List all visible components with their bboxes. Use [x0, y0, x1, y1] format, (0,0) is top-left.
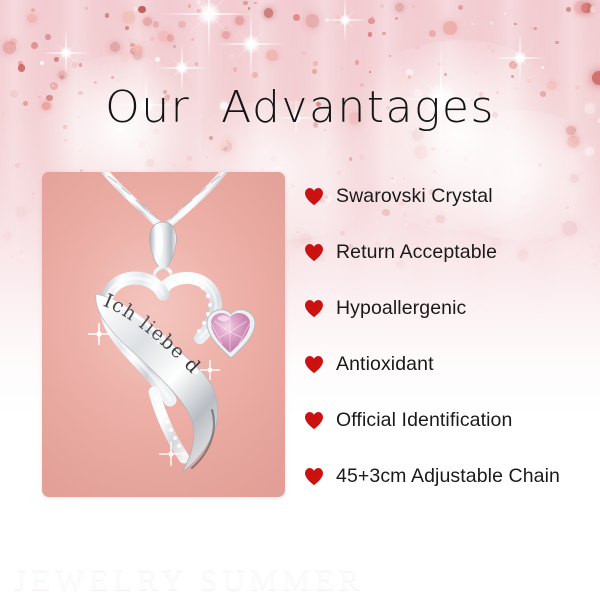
advantage-item: Swarovski Crystal — [303, 168, 595, 224]
advantage-item: Hypoallergenic — [303, 280, 595, 336]
advantage-item: 45+3cm Adjustable Chain — [303, 448, 595, 504]
page-title: Our Advantages — [0, 82, 600, 133]
advantage-item: Official Identification — [303, 392, 595, 448]
advertisement-banner: Our Advantages — [0, 0, 600, 600]
heart-icon — [303, 354, 325, 374]
product-image-panel[interactable]: Ich liebe dich — [42, 172, 285, 497]
advantage-item-label: Antioxidant — [336, 353, 434, 376]
advantage-item-label: Hypoallergenic — [336, 297, 466, 320]
heart-icon — [303, 186, 325, 206]
advantage-item: Return Acceptable — [303, 224, 595, 280]
advantage-item-label: Official Identification — [336, 409, 512, 432]
necklace-chain — [100, 172, 228, 228]
footer-watermark: JEWELRY SUMMER — [14, 562, 364, 598]
advantage-item-label: Swarovski Crystal — [336, 185, 493, 208]
necklace-illustration: Ich liebe dich — [42, 172, 285, 497]
heart-icon — [303, 410, 325, 430]
advantage-item-label: 45+3cm Adjustable Chain — [336, 465, 560, 488]
heart-icon — [303, 242, 325, 262]
heart-icon — [303, 466, 325, 486]
pendant-bail — [150, 222, 177, 270]
advantage-item: Antioxidant — [303, 336, 595, 392]
advantages-list: Swarovski CrystalReturn AcceptableHypoal… — [303, 168, 595, 504]
heart-icon — [303, 298, 325, 318]
advantage-item-label: Return Acceptable — [336, 241, 497, 264]
pink-crystal-heart — [207, 310, 255, 358]
